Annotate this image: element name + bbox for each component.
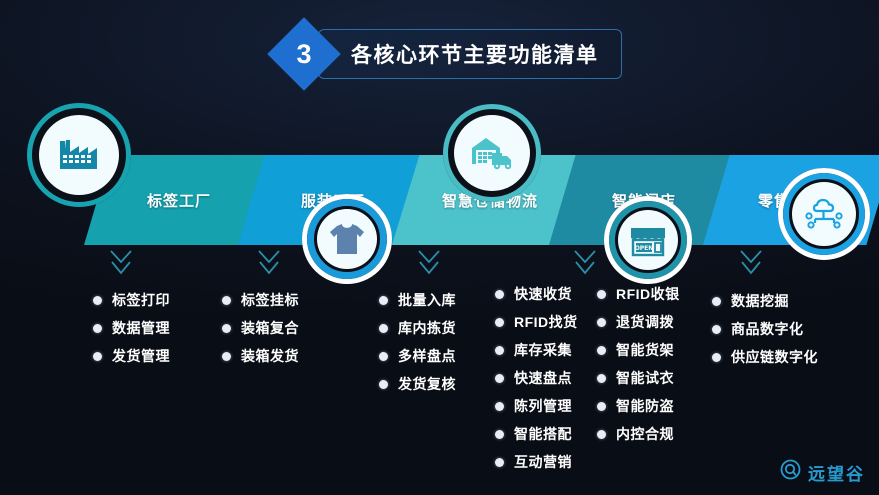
feature-label: 多样盘点 bbox=[398, 346, 456, 366]
list-item[interactable]: 标签挂标 bbox=[222, 286, 299, 314]
list-item[interactable]: 供应链数字化 bbox=[712, 343, 818, 371]
feature-label: 批量入库 bbox=[398, 290, 456, 310]
stage-label: 标签工厂 bbox=[147, 190, 211, 211]
list-item[interactable]: 多样盘点 bbox=[379, 342, 456, 370]
flow-arrow-5 bbox=[738, 248, 764, 278]
bullet-dot bbox=[222, 352, 231, 361]
bullet-dot bbox=[93, 352, 102, 361]
feature-label: 数据管理 bbox=[112, 318, 170, 338]
bullet-dot bbox=[222, 296, 231, 305]
bullet-dot bbox=[379, 296, 388, 305]
bullet-dot bbox=[495, 402, 504, 411]
bullet-dot bbox=[597, 430, 606, 439]
feature-label: 快速收货 bbox=[514, 284, 572, 304]
step-number-diamond: 3 bbox=[267, 17, 341, 91]
feature-label: 内控合规 bbox=[616, 424, 674, 444]
cloud-network-icon bbox=[804, 197, 844, 231]
list-item[interactable]: 发货管理 bbox=[93, 342, 170, 370]
badge-disc bbox=[792, 182, 856, 246]
slide-canvas: 3 各核心环节主要功能清单 标签工厂 服装工厂 智慧仓储物流 智能门店 零售大数… bbox=[0, 0, 879, 495]
feature-label: 退货调拨 bbox=[616, 312, 674, 332]
flow-arrow-1 bbox=[108, 248, 134, 278]
feature-column-store-a: 快速收货 RFID找货 库存采集 快速盘点 陈列管理 智能搭配 互动营销 bbox=[495, 280, 578, 476]
list-item[interactable]: 快速盘点 bbox=[495, 364, 578, 392]
list-item[interactable]: 批量入库 bbox=[379, 286, 456, 314]
feature-label: 智能试衣 bbox=[616, 368, 674, 388]
list-item[interactable]: 标签打印 bbox=[93, 286, 170, 314]
double-chevron-down-icon bbox=[256, 248, 282, 278]
feature-label: 互动营销 bbox=[514, 452, 572, 472]
feature-label: RFID找货 bbox=[514, 312, 578, 332]
list-item[interactable]: 退货调拨 bbox=[597, 308, 680, 336]
brand-logo: 远望谷 bbox=[780, 459, 865, 485]
bullet-dot bbox=[597, 318, 606, 327]
feature-label: 商品数字化 bbox=[731, 319, 804, 339]
feature-label: 智能货架 bbox=[616, 340, 674, 360]
feature-label: 库存采集 bbox=[514, 340, 572, 360]
bullet-dot bbox=[379, 380, 388, 389]
badge-disc: OPEN bbox=[618, 210, 678, 270]
list-item[interactable]: 智能防盗 bbox=[597, 392, 680, 420]
flow-arrow-4 bbox=[572, 248, 598, 278]
feature-label: 标签挂标 bbox=[241, 290, 299, 310]
step-number: 3 bbox=[278, 28, 330, 80]
badge-disc bbox=[39, 115, 119, 195]
feature-label: 陈列管理 bbox=[514, 396, 572, 416]
double-chevron-down-icon bbox=[108, 248, 134, 278]
stage-icon-badge-label-factory[interactable] bbox=[27, 103, 131, 207]
feature-label: 发货管理 bbox=[112, 346, 170, 366]
stage-icon-badge-retail-big-data[interactable] bbox=[778, 168, 870, 260]
badge-disc bbox=[454, 115, 530, 191]
list-item[interactable]: 装箱发货 bbox=[222, 342, 299, 370]
stage-icon-badge-smart-warehouse[interactable] bbox=[443, 104, 541, 202]
feature-label: 库内拣货 bbox=[398, 318, 456, 338]
list-item[interactable]: RFID找货 bbox=[495, 308, 578, 336]
feature-label: 智能搭配 bbox=[514, 424, 572, 444]
tshirt-icon bbox=[328, 221, 366, 257]
bullet-dot bbox=[93, 324, 102, 333]
bullet-dot bbox=[495, 374, 504, 383]
feature-column-big-data: 数据挖掘 商品数字化 供应链数字化 bbox=[712, 287, 818, 371]
flow-arrow-2 bbox=[256, 248, 282, 278]
list-item[interactable]: 装箱复合 bbox=[222, 314, 299, 342]
factory-icon bbox=[56, 135, 102, 175]
list-item[interactable]: 陈列管理 bbox=[495, 392, 578, 420]
bullet-dot bbox=[93, 296, 102, 305]
flow-arrow-3 bbox=[416, 248, 442, 278]
list-item[interactable]: 数据管理 bbox=[93, 314, 170, 342]
warehouse-truck-icon bbox=[468, 134, 516, 172]
feature-label: 装箱复合 bbox=[241, 318, 299, 338]
feature-label: 装箱发货 bbox=[241, 346, 299, 366]
page-title: 各核心环节主要功能清单 bbox=[351, 39, 599, 69]
svg-text:OPEN: OPEN bbox=[635, 245, 654, 252]
title-box: 各核心环节主要功能清单 bbox=[318, 29, 622, 79]
bullet-dot bbox=[597, 346, 606, 355]
bullet-dot bbox=[597, 402, 606, 411]
brand-name: 远望谷 bbox=[808, 460, 865, 485]
list-item[interactable]: 智能搭配 bbox=[495, 420, 578, 448]
bullet-dot bbox=[712, 353, 721, 362]
feature-column-apparel-factory: 标签挂标 装箱复合 装箱发货 bbox=[222, 286, 299, 370]
stage-icon-badge-smart-store[interactable]: OPEN bbox=[604, 196, 692, 284]
bullet-dot bbox=[495, 318, 504, 327]
feature-column-label-factory: 标签打印 数据管理 发货管理 bbox=[93, 286, 170, 370]
storefront-icon: OPEN bbox=[628, 222, 668, 258]
bullet-dot bbox=[597, 290, 606, 299]
bullet-dot bbox=[712, 325, 721, 334]
list-item[interactable]: 发货复核 bbox=[379, 370, 456, 398]
bullet-dot bbox=[222, 324, 231, 333]
list-item[interactable]: 库存采集 bbox=[495, 336, 578, 364]
feature-label: 发货复核 bbox=[398, 374, 456, 394]
list-item[interactable]: 数据挖掘 bbox=[712, 287, 818, 315]
bullet-dot bbox=[495, 346, 504, 355]
process-ribbon: 标签工厂 服装工厂 智慧仓储物流 智能门店 零售大数据 bbox=[0, 155, 879, 245]
list-item[interactable]: 智能货架 bbox=[597, 336, 680, 364]
bullet-dot bbox=[379, 352, 388, 361]
feature-label: 供应链数字化 bbox=[731, 347, 818, 367]
brand-circle-icon bbox=[780, 459, 801, 485]
list-item[interactable]: 互动营销 bbox=[495, 448, 578, 476]
feature-label: 智能防盗 bbox=[616, 396, 674, 416]
list-item[interactable]: 商品数字化 bbox=[712, 315, 818, 343]
feature-label: 数据挖掘 bbox=[731, 291, 789, 311]
bullet-dot bbox=[379, 324, 388, 333]
double-chevron-down-icon bbox=[738, 248, 764, 278]
feature-label: 快速盘点 bbox=[514, 368, 572, 388]
bullet-dot bbox=[712, 297, 721, 306]
list-item[interactable]: RFID收银 bbox=[597, 280, 680, 308]
list-item[interactable]: 内控合规 bbox=[597, 420, 680, 448]
bullet-dot bbox=[597, 374, 606, 383]
bullet-dot bbox=[495, 430, 504, 439]
badge-disc bbox=[317, 209, 377, 269]
bullet-dot bbox=[495, 458, 504, 467]
feature-label: RFID收银 bbox=[616, 284, 680, 304]
list-item[interactable]: 快速收货 bbox=[495, 280, 578, 308]
slide-title-group: 3 各核心环节主要功能清单 bbox=[278, 28, 622, 80]
stage-icon-badge-apparel-factory[interactable] bbox=[302, 194, 392, 284]
list-item[interactable]: 智能试衣 bbox=[597, 364, 680, 392]
double-chevron-down-icon bbox=[572, 248, 598, 278]
double-chevron-down-icon bbox=[416, 248, 442, 278]
feature-column-store-b: RFID收银 退货调拨 智能货架 智能试衣 智能防盗 内控合规 bbox=[597, 280, 680, 448]
bullet-dot bbox=[495, 290, 504, 299]
list-item[interactable]: 库内拣货 bbox=[379, 314, 456, 342]
feature-column-warehouse: 批量入库 库内拣货 多样盘点 发货复核 bbox=[379, 286, 456, 398]
feature-label: 标签打印 bbox=[112, 290, 170, 310]
